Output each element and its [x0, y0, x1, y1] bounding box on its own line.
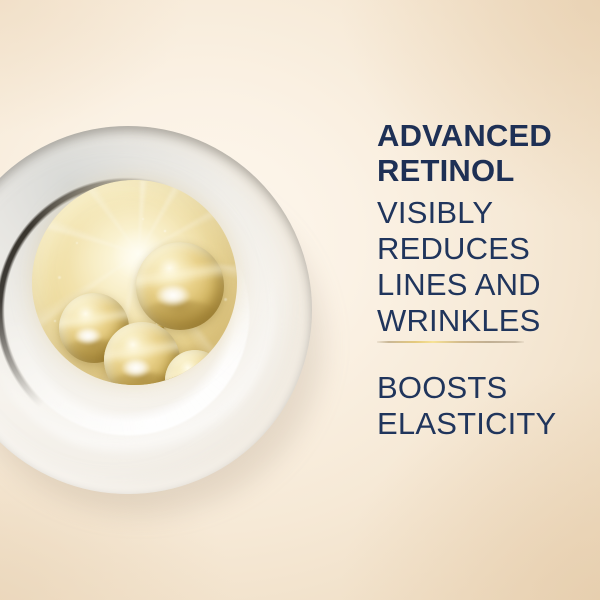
golden-serum-core [32, 180, 237, 385]
secondary-benefit: BOOSTS ELASTICITY [377, 370, 577, 442]
advertisement-canvas: ADVANCED RETINOL VISIBLY REDUCES LINES A… [0, 0, 600, 600]
benefit-statement: VISIBLY REDUCES LINES AND WRINKLES [377, 195, 567, 339]
atom-specular-highlight [155, 284, 190, 307]
atom-refraction-band [228, 332, 237, 351]
subhead-line-2: REDUCES [377, 231, 567, 267]
copy-panel: ADVANCED RETINOL VISIBLY REDUCES LINES A… [377, 118, 567, 339]
page-title: ADVANCED RETINOL [377, 118, 567, 188]
gold-divider [377, 341, 524, 343]
retinol-molecule [32, 180, 237, 385]
tagline-line-2: ELASTICITY [377, 406, 577, 442]
molecule-atom [228, 322, 237, 374]
subhead-line-3: LINES AND [377, 267, 567, 303]
headline-line-2: RETINOL [377, 153, 567, 188]
subhead-line-4: WRINKLES [377, 303, 567, 339]
headline-line-1: ADVANCED [377, 118, 567, 153]
molecule-atom [136, 242, 224, 330]
atom-specular-highlight [178, 379, 202, 385]
subhead-line-1: VISIBLY [377, 195, 567, 231]
atom-shadow [230, 356, 237, 374]
atom-specular-highlight [74, 327, 102, 345]
tagline-line-1: BOOSTS [377, 370, 577, 406]
serum-droplet-graphic [0, 96, 348, 516]
